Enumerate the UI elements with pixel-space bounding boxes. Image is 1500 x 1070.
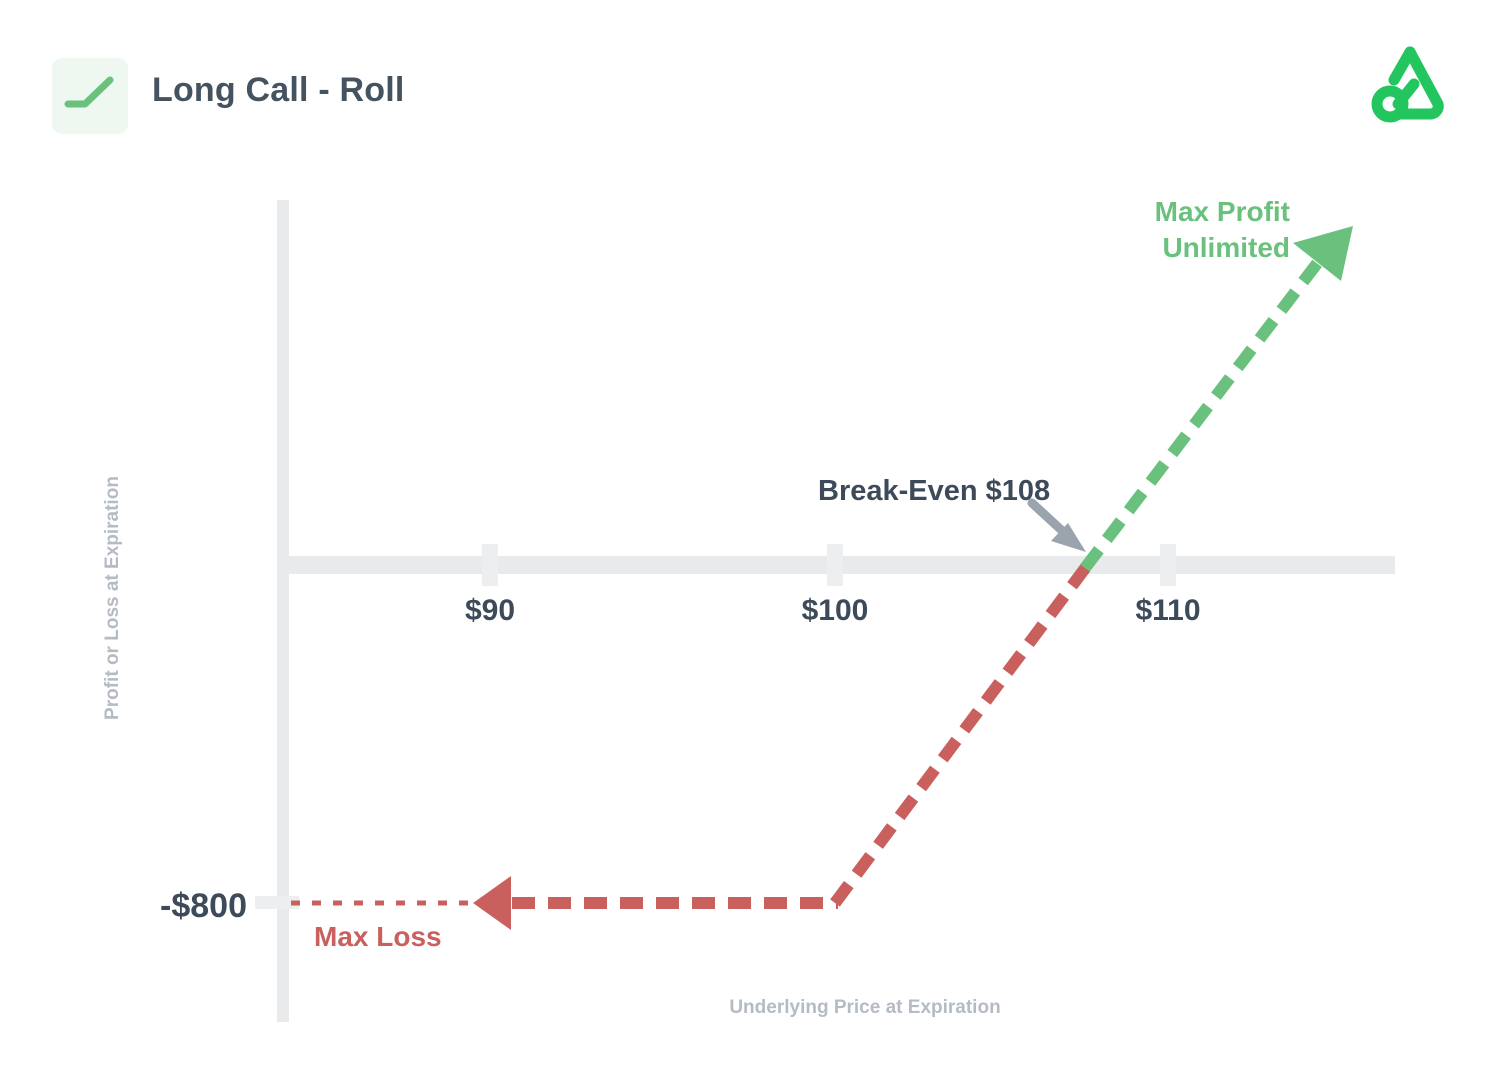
payoff-loss-rising-segment: [835, 563, 1089, 903]
x-tick-label-90: $90: [465, 594, 515, 627]
y-axis-title: Profit or Loss at Expiration: [102, 476, 123, 720]
max-loss-arrowhead: [473, 876, 511, 930]
break-even-pointer-arrow-icon: [1032, 503, 1086, 552]
max-profit-arrowhead: [1293, 226, 1353, 281]
max-profit-label-line2: Unlimited: [1162, 232, 1290, 263]
payoff-chart: $90 $100 $110 -$800 Underlying Price at …: [0, 0, 1500, 1070]
x-tick-label-110: $110: [1135, 594, 1200, 627]
y-tick-label-max-loss: -$800: [160, 887, 247, 925]
x-tick-mark-110: [1160, 544, 1176, 586]
x-axis-title: Underlying Price at Expiration: [729, 997, 1000, 1018]
max-loss-label: Max Loss: [314, 921, 442, 952]
max-profit-label-line1: Max Profit: [1155, 196, 1290, 227]
x-tick-mark-90: [482, 544, 498, 586]
payoff-profit-rising-segment: [1085, 253, 1325, 568]
x-tick-mark-100: [827, 544, 843, 586]
break-even-label: Break-Even $108: [818, 475, 1050, 507]
x-tick-label-100: $100: [802, 594, 869, 627]
